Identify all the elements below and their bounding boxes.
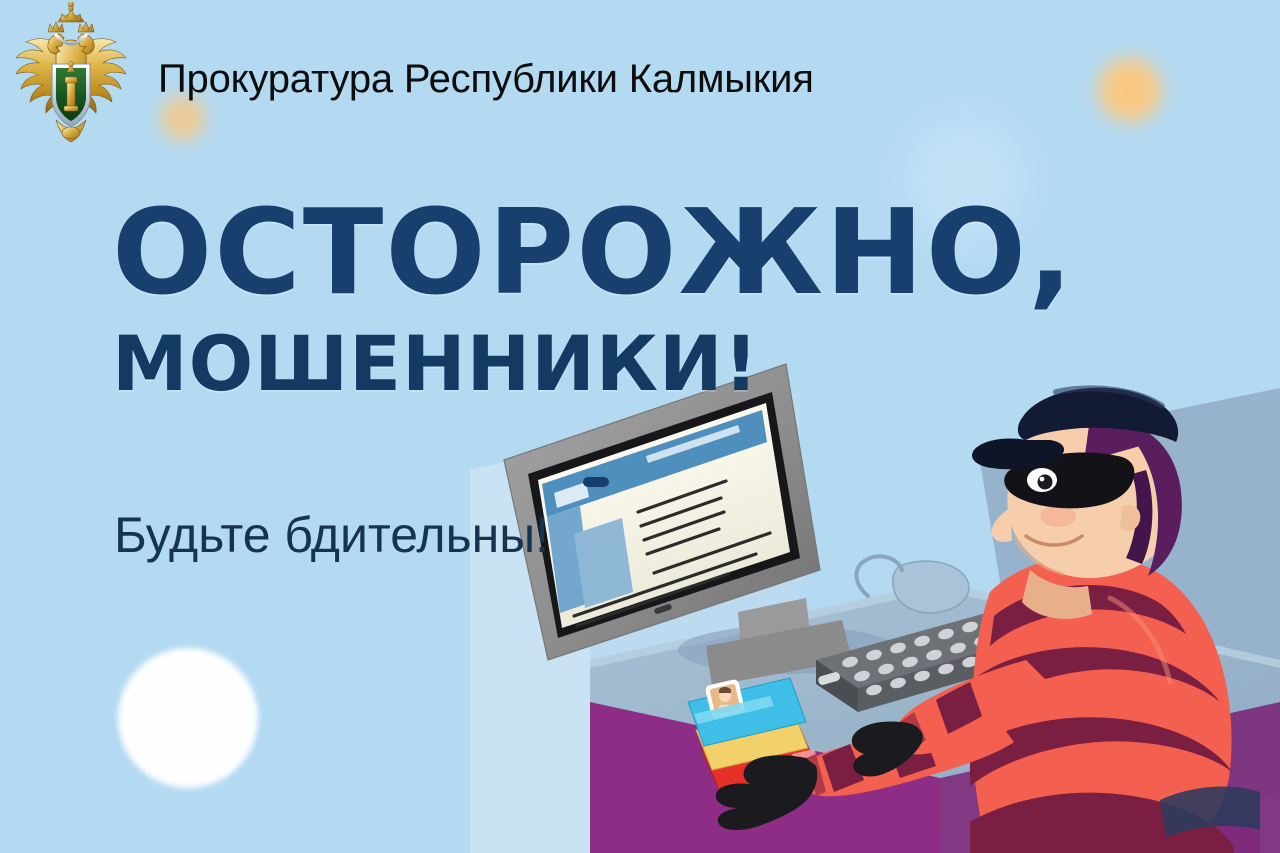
header: Прокуратура Республики Калмыкия xyxy=(0,0,1280,150)
prosecutor-office-emblem xyxy=(12,2,130,144)
headline-secondary: МОШЕННИКИ! xyxy=(112,322,1075,406)
decorative-dash xyxy=(583,477,609,487)
white-circle xyxy=(118,648,258,788)
poster-root: Прокуратура Республики Калмыкия ОСТОРОЖН… xyxy=(0,0,1280,853)
page-title: Прокуратура Республики Калмыкия xyxy=(158,56,814,102)
subline-text: Будьте бдительны! xyxy=(114,505,549,565)
headline-block: ОСТОРОЖНО, МОШЕННИКИ! xyxy=(112,196,1075,406)
hacker-at-computer-illustration xyxy=(470,330,1280,853)
headline-primary: ОСТОРОЖНО, xyxy=(112,196,1075,308)
